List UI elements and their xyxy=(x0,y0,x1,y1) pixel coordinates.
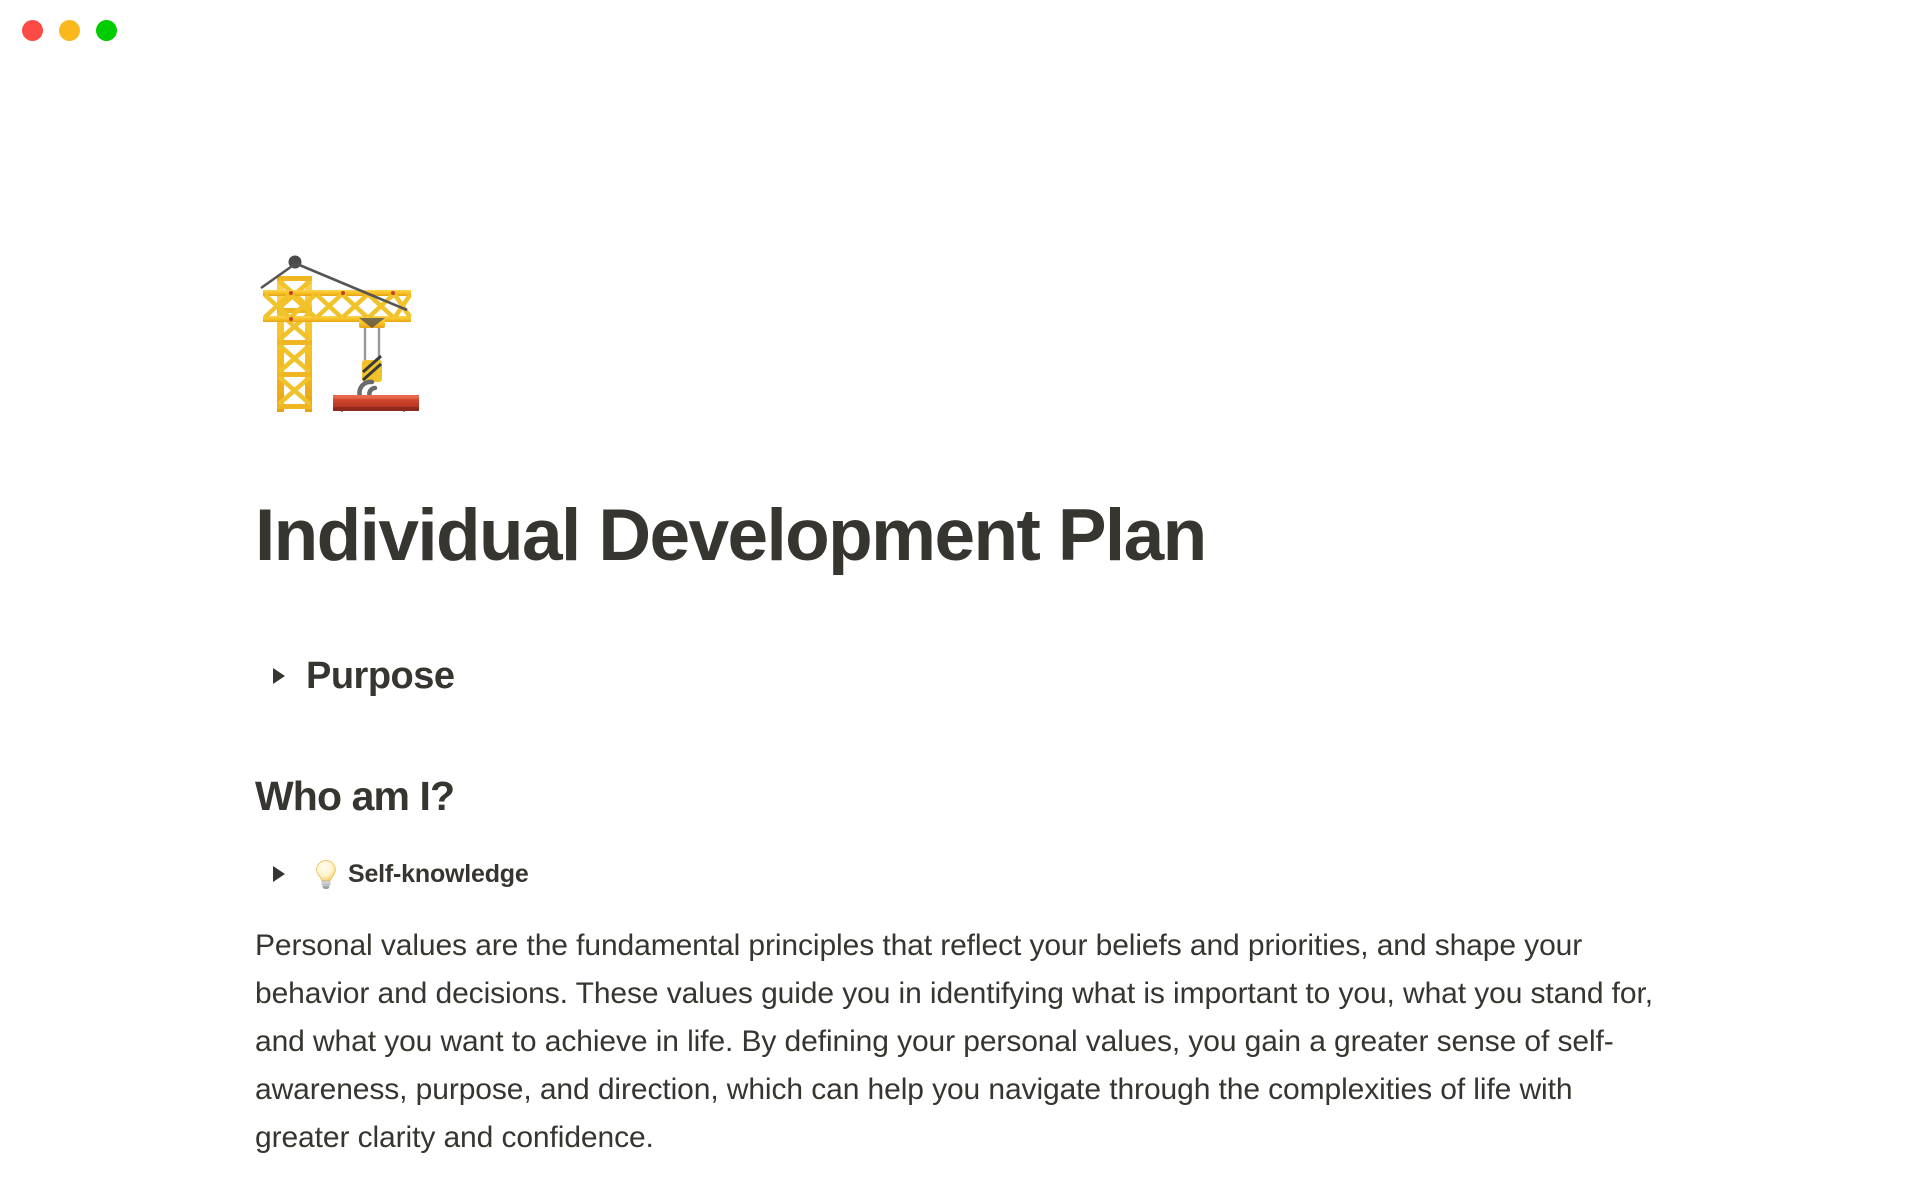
body-paragraph[interactable]: Personal values are the fundamental prin… xyxy=(255,922,1673,1162)
page-title[interactable]: Individual Development Plan xyxy=(255,492,1206,580)
document-page: Individual Development Plan Purpose Who … xyxy=(0,0,1920,1200)
construction-crane-icon[interactable] xyxy=(255,248,427,414)
toggle-triangle-icon[interactable] xyxy=(255,665,291,687)
toggle-triangle-icon[interactable] xyxy=(255,863,291,885)
toggle-block-purpose[interactable]: Purpose xyxy=(255,652,455,700)
heading-who-am-i[interactable]: Who am I? xyxy=(255,770,454,822)
toggle-label-self-knowledge: Self-knowledge xyxy=(348,857,529,891)
toggle-label-purpose: Purpose xyxy=(306,652,455,700)
toggle-block-self-knowledge[interactable]: Self-knowledge xyxy=(255,850,529,898)
light-bulb-icon xyxy=(313,859,339,889)
